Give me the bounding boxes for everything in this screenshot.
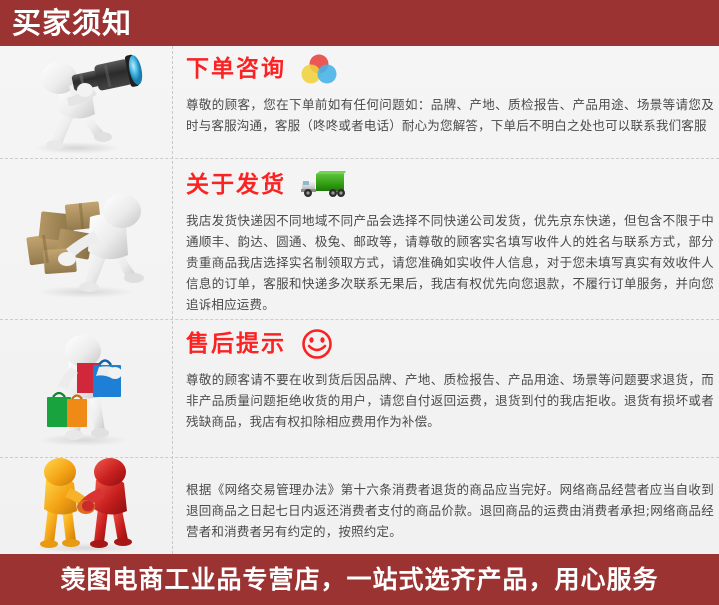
section-order-inquiry: 下单咨询 尊敬的顾客，您在下单前如有任何问题如：品牌、产地、质检报告、产品用途、… [0, 46, 719, 158]
page-title: 买家须知 [12, 4, 132, 42]
section-body-text: 根据《网络交易管理办法》第十六条消费者退货的商品应当完好。网络商品经营者应当自收… [186, 479, 714, 542]
venn-circles-svg [300, 54, 338, 84]
section-regulation: 根据《网络交易管理办法》第十六条消费者退货的商品应当完好。网络商品经营者应当自收… [0, 457, 719, 554]
notice-body-panel: 下单咨询 尊敬的顾客，您在下单前如有任何问题如：品牌、产地、质检报告、产品用途、… [0, 46, 719, 554]
buyer-notice-banner: 买家须知 [0, 0, 719, 605]
truck-svg [300, 171, 346, 199]
section-content: 售后提示 尊敬的顾客请不要在收到货后因品牌、产地、质检报告、产品用途、场景等问题… [186, 327, 714, 432]
figure-with-telescope-illustration [0, 46, 172, 158]
section-content: 根据《网络交易管理办法》第十六条消费者退货的商品应当完好。网络商品经营者应当自收… [186, 479, 714, 542]
store-slogan: 羡图电商工业品专营店，一站式选齐产品，用心服务 [60, 564, 658, 596]
section-header: 售后提示 [186, 327, 714, 361]
section-content: 关于发货 [186, 168, 714, 315]
section-content: 下单咨询 尊敬的顾客，您在下单前如有任何问题如：品牌、产地、质检报告、产品用途、… [186, 52, 714, 136]
shopping-figure-svg [11, 329, 161, 447]
handshake-figures-svg [6, 458, 166, 554]
two-figures-handshake-illustration [0, 457, 172, 554]
section-body-text: 我店发货快递因不同地域不同产品会选择不同快递公司发货，优先京东快递，但包含不限于… [186, 210, 714, 315]
figure-carrying-boxes-illustration [0, 158, 172, 319]
section-header: 下单咨询 [186, 52, 714, 86]
delivery-truck-icon [300, 171, 346, 199]
section-shipping: 关于发货 [0, 158, 719, 319]
section-body-text: 尊敬的顾客请不要在收到货后因品牌、产地、质检报告、产品用途、场景等问题要求退货，… [186, 369, 714, 432]
section-title: 下单咨询 [186, 54, 286, 84]
section-body-text: 尊敬的顾客，您在下单前如有任何问题如：品牌、产地、质检报告、产品用途、场景等请您… [186, 94, 714, 136]
section-after-sales: 售后提示 尊敬的顾客请不要在收到货后因品牌、产地、质检报告、产品用途、场景等问题… [0, 319, 719, 457]
section-header: 关于发货 [186, 168, 714, 202]
boxes-figure-svg [10, 179, 162, 299]
smiley-face-icon [300, 328, 334, 360]
section-title: 关于发货 [186, 170, 286, 200]
smiley-svg [300, 328, 334, 360]
footer-bar: 羡图电商工业品专营店，一站式选齐产品，用心服务 [0, 554, 719, 605]
telescope-figure-svg [11, 50, 161, 154]
figure-with-shopping-bags-illustration [0, 319, 172, 457]
section-title: 售后提示 [186, 329, 286, 359]
header-bar: 买家须知 [0, 0, 719, 46]
three-circles-venn-icon [300, 54, 338, 84]
